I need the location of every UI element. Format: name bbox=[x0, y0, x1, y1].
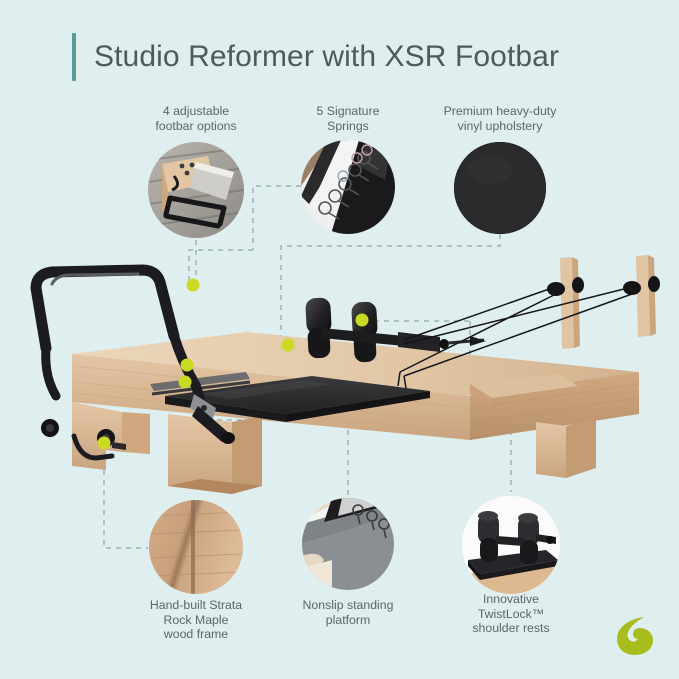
callout-wood-frame-image bbox=[149, 500, 243, 594]
callout-footbar-image bbox=[148, 142, 244, 238]
hotspot-footbar-mid[interactable] bbox=[181, 359, 194, 372]
hotspot-footbar-top[interactable] bbox=[187, 279, 200, 292]
callout-springs-image bbox=[301, 140, 395, 234]
title-accent-bar bbox=[72, 33, 76, 81]
callout-shoulder-rests-image bbox=[462, 496, 560, 594]
page-title: Studio Reformer with XSR Footbar bbox=[72, 33, 559, 81]
page-title-text: Studio Reformer with XSR Footbar bbox=[94, 40, 559, 74]
callout-upholstery-label: Premium heavy-duty vinyl upholstery bbox=[410, 104, 590, 133]
infographic-root: Studio Reformer with XSR Footbar bbox=[0, 0, 679, 679]
hotspot-footbar-low[interactable] bbox=[179, 376, 192, 389]
brand-logo[interactable] bbox=[613, 613, 657, 657]
callout-shoulder-rests-label: Innovative TwistLock™ shoulder rests bbox=[421, 592, 601, 636]
hotspot-wood-frame[interactable] bbox=[98, 437, 111, 450]
callout-standing-platform-image bbox=[302, 498, 394, 590]
callout-standing-platform-label: Nonslip standing platform bbox=[258, 598, 438, 627]
hotspot-upholstery[interactable] bbox=[282, 339, 295, 352]
callout-upholstery-image bbox=[454, 142, 546, 234]
studio-reformer-illustration bbox=[0, 236, 679, 496]
hotspot-shoulder-rests[interactable] bbox=[356, 314, 369, 327]
